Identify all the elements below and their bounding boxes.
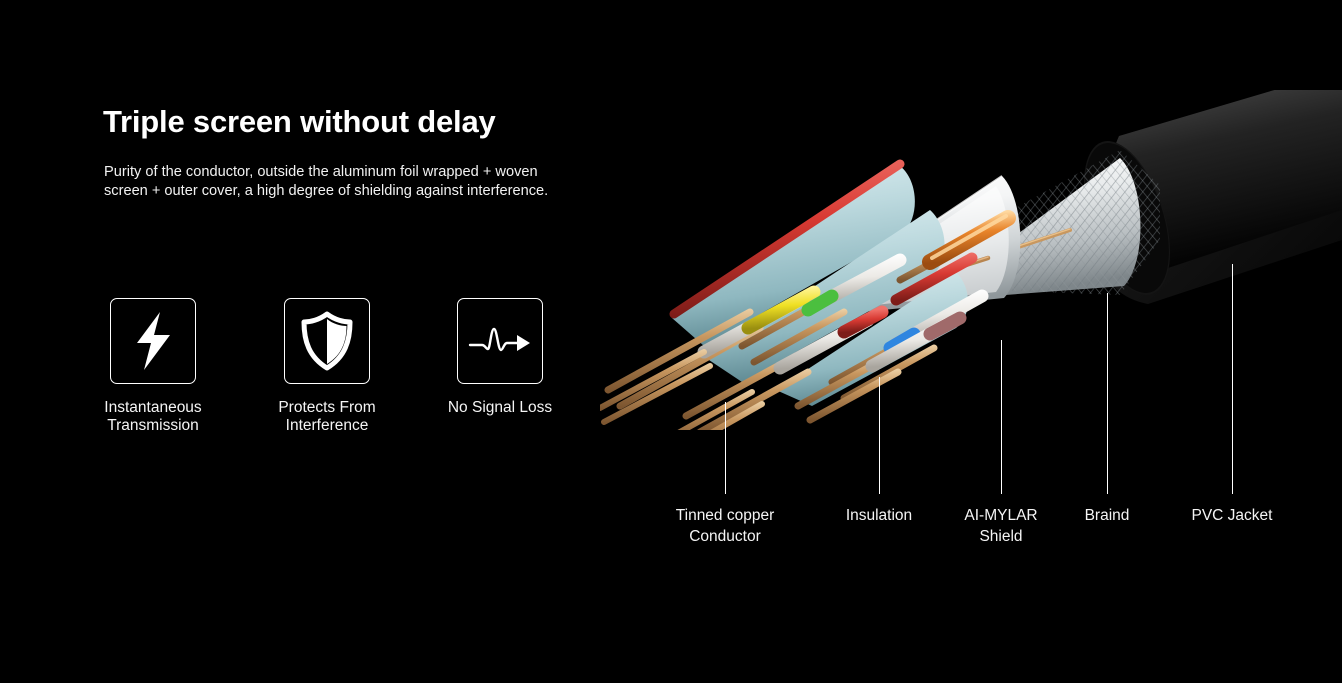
callout-label-pvc-jacket: PVC Jacket xyxy=(1192,505,1273,526)
product-feature-panel: Triple screen without delay Purity of th… xyxy=(0,0,1342,683)
feature-icon-box xyxy=(284,298,370,384)
feature-label: No Signal Loss xyxy=(425,399,575,417)
shield-icon xyxy=(299,311,355,371)
callout-label-braind: Braind xyxy=(1085,505,1130,526)
feature-icon-box xyxy=(457,298,543,384)
feature-label: Instantaneous Transmission xyxy=(78,399,228,435)
leader-line-ai-mylar-shield xyxy=(1001,340,1002,494)
lightning-bolt-icon xyxy=(127,310,179,372)
feature-no-signal-loss: No Signal Loss xyxy=(425,298,575,417)
leader-line-braind xyxy=(1107,293,1108,494)
leader-line-pvc-jacket xyxy=(1232,264,1233,494)
callout-label-ai-mylar-shield: AI-MYLAR Shield xyxy=(964,505,1037,547)
feature-protects-from-interference: Protects From Interference xyxy=(252,298,402,435)
page-description: Purity of the conductor, outside the alu… xyxy=(104,163,556,201)
feature-icon-box xyxy=(110,298,196,384)
callout-label-tinned-copper-conductor: Tinned copper Conductor xyxy=(676,505,775,547)
signal-waveform-arrow-icon xyxy=(468,321,532,361)
leader-line-insulation xyxy=(879,377,880,494)
page-title: Triple screen without delay xyxy=(103,104,496,140)
callout-label-insulation: Insulation xyxy=(846,505,912,526)
leader-line-tinned-copper-conductor xyxy=(725,402,726,494)
feature-instantaneous-transmission: Instantaneous Transmission xyxy=(78,298,228,435)
feature-label: Protects From Interference xyxy=(252,399,402,435)
cable-cutaway-illustration xyxy=(600,90,1342,430)
